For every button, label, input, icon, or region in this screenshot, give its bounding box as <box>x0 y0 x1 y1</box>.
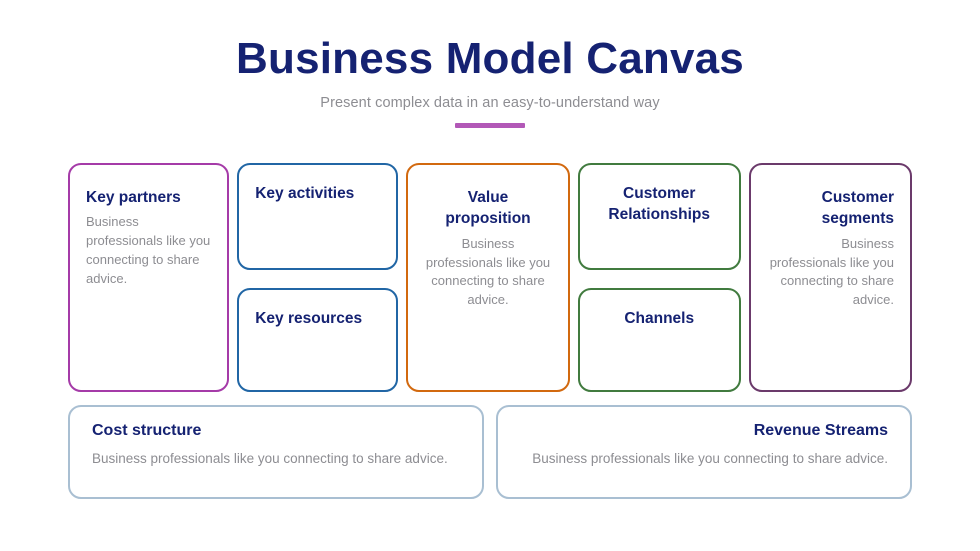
bottom-card-body: Business professionals like you connecti… <box>520 449 888 469</box>
canvas-card-title: Key resources <box>255 308 380 329</box>
canvas-card-body: Business professionals like you connecti… <box>424 235 551 310</box>
canvas-card-key-activities[interactable]: Key activities <box>237 163 398 270</box>
canvas-column-customer-segments: Customer segments Business professionals… <box>749 163 912 392</box>
canvas-grid: Key partners Business professionals like… <box>68 163 912 392</box>
canvas-card-channels[interactable]: Channels <box>578 288 741 392</box>
canvas-card-customer-relationships[interactable]: Customer Relationships <box>578 163 741 270</box>
canvas-card-value-proposition[interactable]: Value proposition Business professionals… <box>406 163 569 392</box>
slide-header: Business Model Canvas Present complex da… <box>0 34 980 128</box>
canvas-card-title: Value proposition <box>424 187 551 230</box>
canvas-card-title: Key activities <box>255 183 380 204</box>
canvas-card-body: Business professionals like you connecti… <box>86 213 211 288</box>
page-subtitle: Present complex data in an easy-to-under… <box>0 95 980 111</box>
canvas-column-value-proposition: Value proposition Business professionals… <box>406 163 569 392</box>
bottom-card-cost-structure[interactable]: Cost structure Business professionals li… <box>68 405 484 499</box>
canvas-card-customer-segments[interactable]: Customer segments Business professionals… <box>749 163 912 392</box>
canvas-card-title: Customer Relationships <box>596 183 723 226</box>
canvas-card-title: Customer segments <box>767 187 894 230</box>
bottom-card-revenue-streams[interactable]: Revenue Streams Business professionals l… <box>496 405 912 499</box>
canvas-card-key-resources[interactable]: Key resources <box>237 288 398 392</box>
bottom-card-body: Business professionals like you connecti… <box>92 449 460 469</box>
canvas-column-key-activities-resources: Key activities Key resources <box>237 163 398 392</box>
canvas-card-key-partners[interactable]: Key partners Business professionals like… <box>68 163 229 392</box>
bottom-row: Cost structure Business professionals li… <box>68 405 912 499</box>
bottom-card-title: Revenue Streams <box>520 421 888 442</box>
accent-divider <box>455 123 525 128</box>
bottom-card-title: Cost structure <box>92 421 460 442</box>
business-model-canvas-slide: Business Model Canvas Present complex da… <box>0 0 980 551</box>
canvas-card-title: Key partners <box>86 187 211 208</box>
page-title: Business Model Canvas <box>0 34 980 85</box>
canvas-card-title: Channels <box>596 308 723 329</box>
canvas-column-key-partners: Key partners Business professionals like… <box>68 163 229 392</box>
canvas-card-body: Business professionals like you connecti… <box>767 235 894 310</box>
canvas-column-customer-relationships-channels: Customer Relationships Channels <box>578 163 741 392</box>
